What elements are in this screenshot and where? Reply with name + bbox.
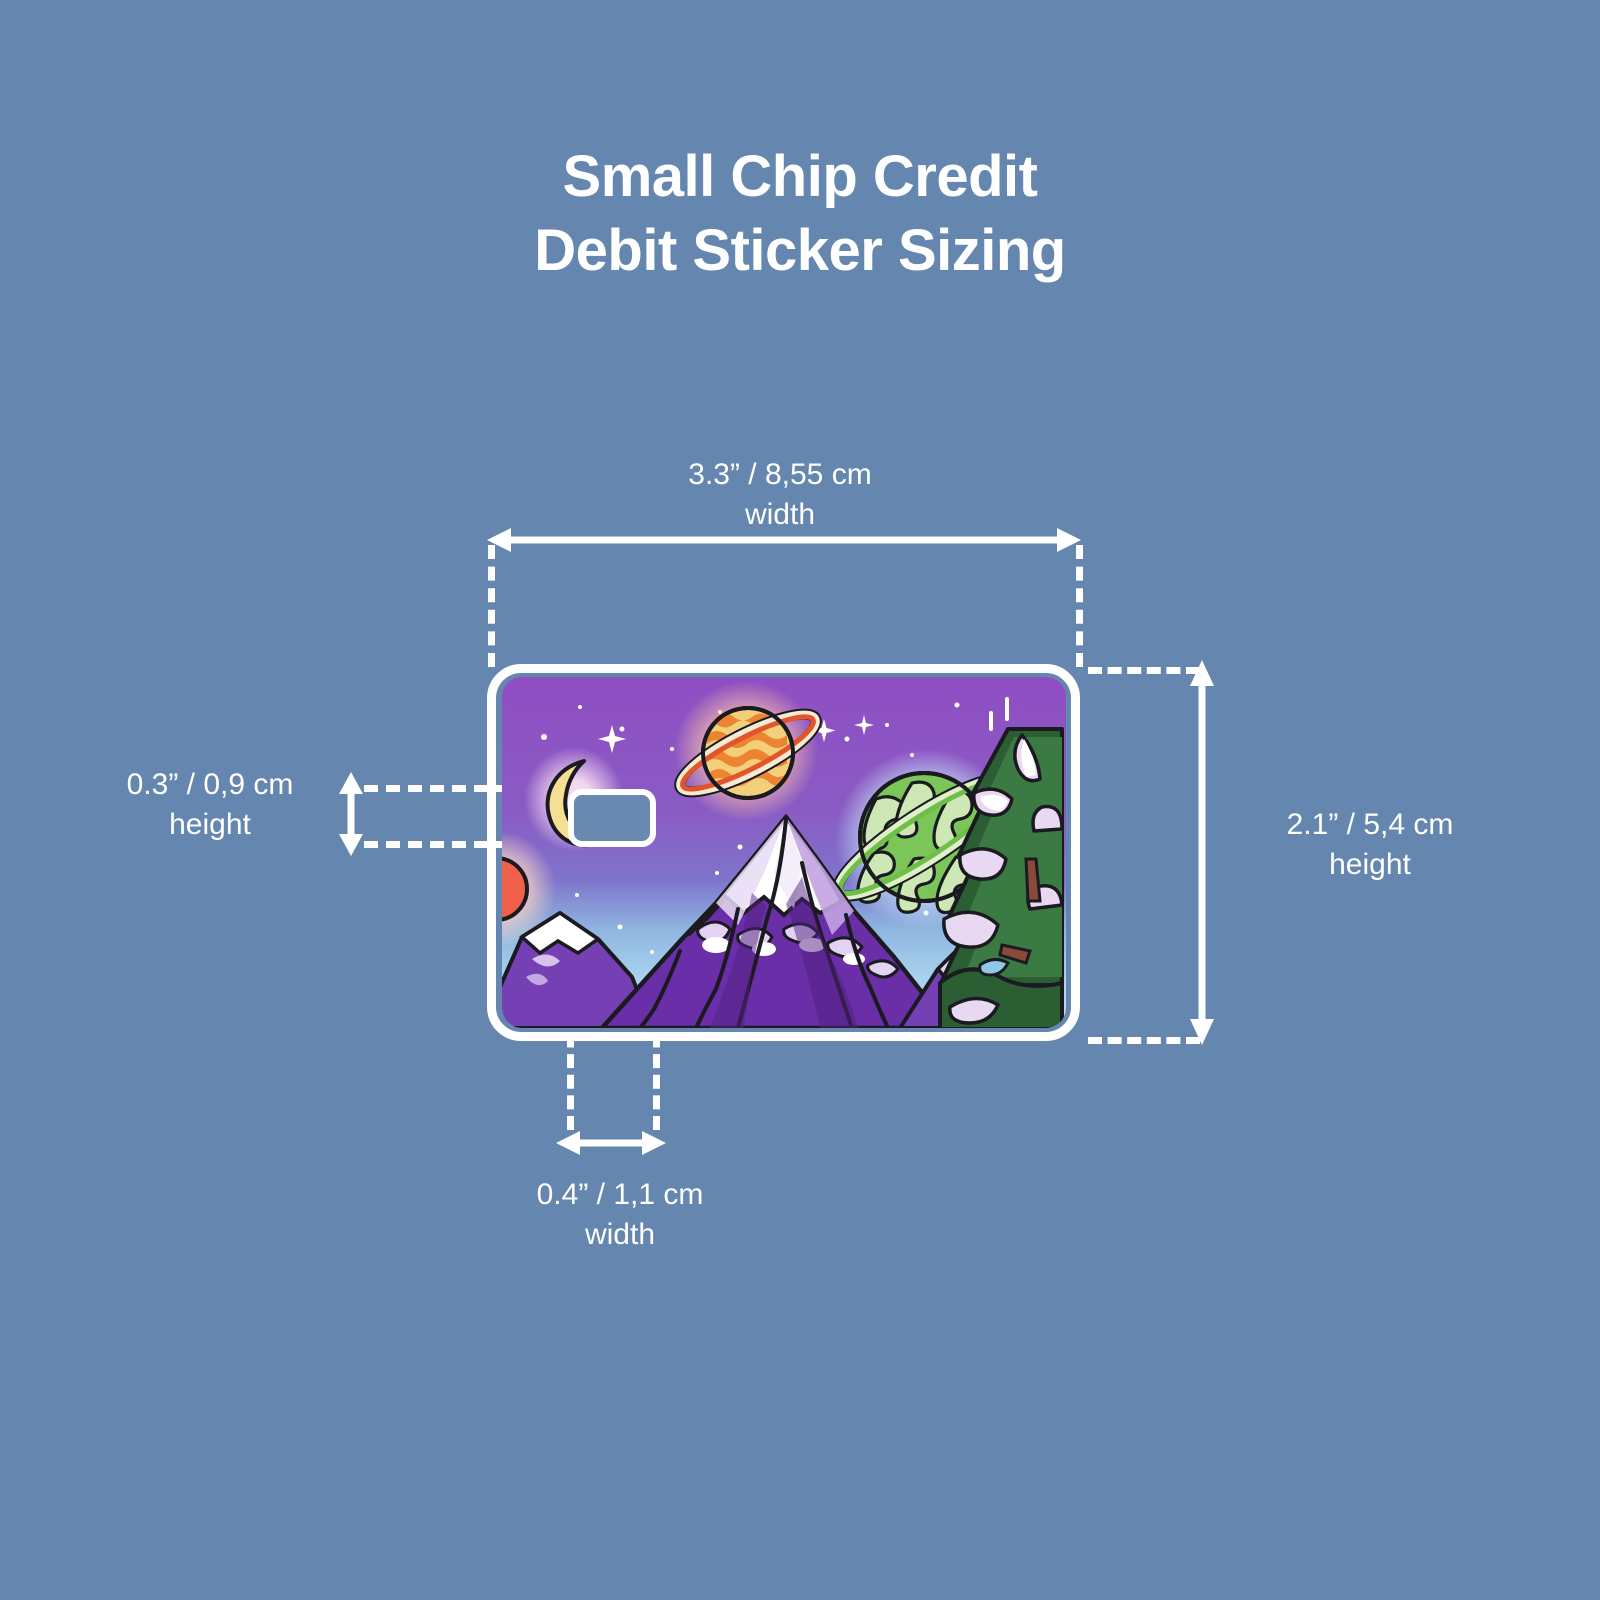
dimension-top-measure: 3.3” / 8,55 cm <box>688 458 871 491</box>
dimension-left-measure: 0.3” / 0,9 cm <box>127 768 294 801</box>
page-title-line-1: Small Chip Credit <box>0 140 1600 214</box>
dimension-bottom-axis: width <box>465 1215 775 1255</box>
dimension-arrow-left-height <box>336 772 366 856</box>
page-title-line-2: Debit Sticker Sizing <box>0 214 1600 288</box>
extension-line-top-right <box>1076 545 1083 667</box>
extension-line-right-top <box>1088 667 1200 674</box>
dimension-arrow-top-width <box>487 525 1081 555</box>
sizing-diagram: Small Chip Credit Debit Sticker Sizing 3… <box>0 0 1600 1600</box>
extension-line-top-left <box>488 545 495 667</box>
dimension-right-measure: 2.1” / 5,4 cm <box>1287 808 1454 841</box>
extension-line-right-bottom <box>1088 1037 1200 1044</box>
dimension-bottom-measure: 0.4” / 1,1 cm <box>537 1178 704 1211</box>
dimension-arrow-bottom-width <box>556 1128 666 1158</box>
page-title: Small Chip Credit Debit Sticker Sizing <box>0 140 1600 288</box>
dimension-arrow-right-height <box>1187 660 1217 1045</box>
dimension-label-left-height: 0.3” / 0,9 cm height <box>80 765 340 845</box>
dimension-label-right-height: 2.1” / 5,4 cm height <box>1215 805 1525 885</box>
chip-placeholder <box>568 789 656 847</box>
dimension-label-top-width: 3.3” / 8,55 cm width <box>530 455 1030 535</box>
dimension-right-axis: height <box>1215 845 1525 885</box>
card-artwork <box>502 677 1066 1028</box>
space-mountain-illustration <box>502 677 1066 1028</box>
dimension-label-bottom-width: 0.4” / 1,1 cm width <box>465 1175 775 1255</box>
dimension-left-axis: height <box>80 805 340 845</box>
